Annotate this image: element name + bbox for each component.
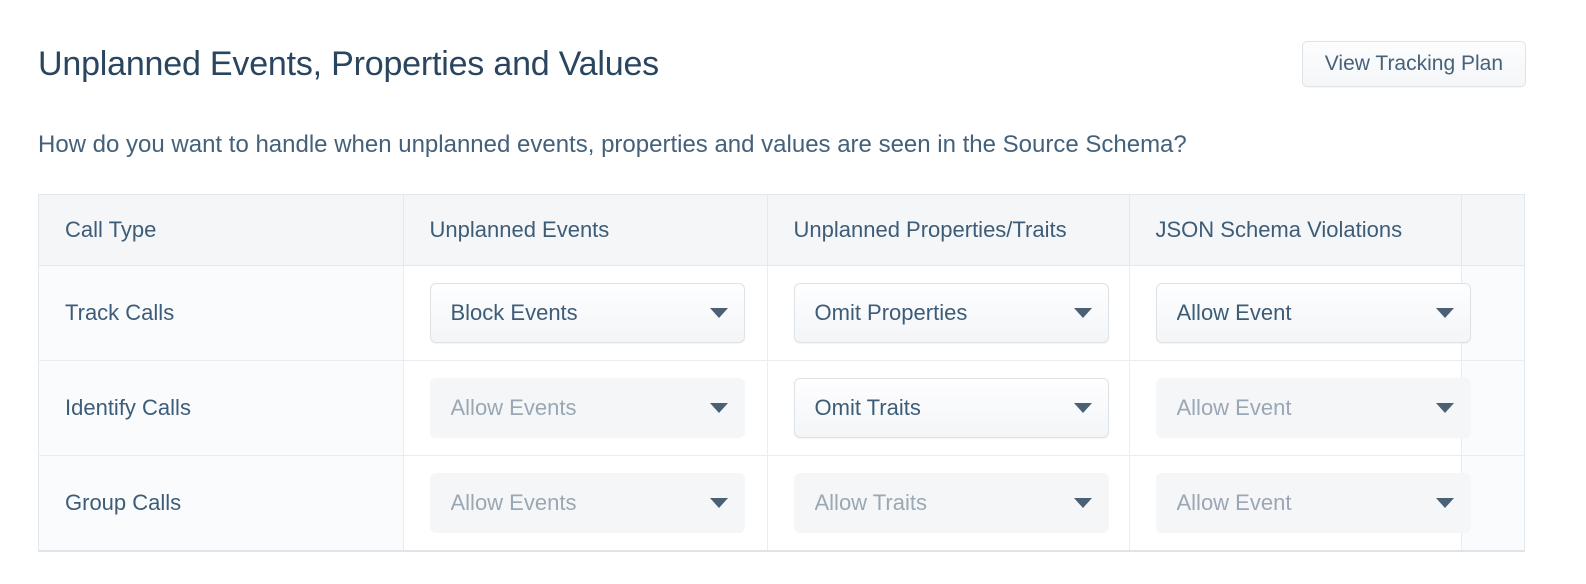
dropdown-value: Allow Event	[1177, 395, 1426, 421]
dropdown-group-unplanned-traits: Allow Traits	[794, 473, 1109, 533]
column-header-unplanned-properties: Unplanned Properties/Traits	[767, 195, 1129, 265]
cell-call-type: Group Calls	[39, 455, 403, 550]
chevron-down-icon	[1436, 308, 1454, 318]
cell-unplanned-properties: Allow Traits	[767, 455, 1129, 550]
cell-unplanned-events: Allow Events	[403, 360, 767, 455]
unplanned-handling-table-container: Call Type Unplanned Events Unplanned Pro…	[38, 194, 1525, 552]
column-header-call-type: Call Type	[39, 195, 403, 265]
dropdown-value: Allow Events	[451, 395, 700, 421]
column-header-unplanned-events: Unplanned Events	[403, 195, 767, 265]
dropdown-value: Allow Event	[1177, 490, 1426, 516]
dropdown-track-unplanned-events[interactable]: Block Events	[430, 283, 745, 343]
dropdown-identify-json-violations: Allow Event	[1156, 378, 1471, 438]
dropdown-track-unplanned-properties[interactable]: Omit Properties	[794, 283, 1109, 343]
dropdown-group-json-violations: Allow Event	[1156, 473, 1471, 533]
cell-unplanned-events: Block Events	[403, 265, 767, 360]
cell-json-schema-violations: Allow Event	[1129, 455, 1461, 550]
unplanned-events-settings-page: Unplanned Events, Properties and Values …	[0, 0, 1586, 584]
cell-call-type: Track Calls	[39, 265, 403, 360]
chevron-down-icon	[710, 403, 728, 413]
chevron-down-icon	[710, 498, 728, 508]
table-body: Track Calls Block Events Omit Properties	[39, 265, 1524, 550]
dropdown-value: Allow Traits	[815, 490, 1064, 516]
dropdown-identify-unplanned-traits[interactable]: Omit Traits	[794, 378, 1109, 438]
table-header: Call Type Unplanned Events Unplanned Pro…	[39, 195, 1524, 265]
view-tracking-plan-button[interactable]: View Tracking Plan	[1302, 41, 1526, 87]
table-row: Identify Calls Allow Events Omit Traits	[39, 360, 1524, 455]
table-row: Track Calls Block Events Omit Properties	[39, 265, 1524, 360]
chevron-down-icon	[1436, 403, 1454, 413]
cell-call-type: Identify Calls	[39, 360, 403, 455]
dropdown-identify-unplanned-events: Allow Events	[430, 378, 745, 438]
dropdown-track-json-violations[interactable]: Allow Event	[1156, 283, 1471, 343]
page-title: Unplanned Events, Properties and Values	[38, 42, 659, 86]
chevron-down-icon	[1436, 498, 1454, 508]
cell-json-schema-violations: Allow Event	[1129, 265, 1461, 360]
dropdown-value: Omit Traits	[815, 395, 1064, 421]
table-header-row: Call Type Unplanned Events Unplanned Pro…	[39, 195, 1524, 265]
dropdown-value: Omit Properties	[815, 300, 1064, 326]
column-header-json-schema-violations: JSON Schema Violations	[1129, 195, 1461, 265]
dropdown-value: Block Events	[451, 300, 700, 326]
chevron-down-icon	[1074, 403, 1092, 413]
chevron-down-icon	[1074, 498, 1092, 508]
chevron-down-icon	[710, 308, 728, 318]
unplanned-handling-table: Call Type Unplanned Events Unplanned Pro…	[39, 195, 1524, 550]
cell-unplanned-events: Allow Events	[403, 455, 767, 550]
page-description: How do you want to handle when unplanned…	[38, 128, 1187, 162]
chevron-down-icon	[1074, 308, 1092, 318]
cell-json-schema-violations: Allow Event	[1129, 360, 1461, 455]
cell-unplanned-properties: Omit Traits	[767, 360, 1129, 455]
cell-unplanned-properties: Omit Properties	[767, 265, 1129, 360]
column-header-spacer	[1461, 195, 1524, 265]
dropdown-group-unplanned-events: Allow Events	[430, 473, 745, 533]
table-row: Group Calls Allow Events Allow Traits	[39, 455, 1524, 550]
page-header: Unplanned Events, Properties and Values …	[38, 34, 1526, 94]
dropdown-value: Allow Event	[1177, 300, 1426, 326]
dropdown-value: Allow Events	[451, 490, 700, 516]
